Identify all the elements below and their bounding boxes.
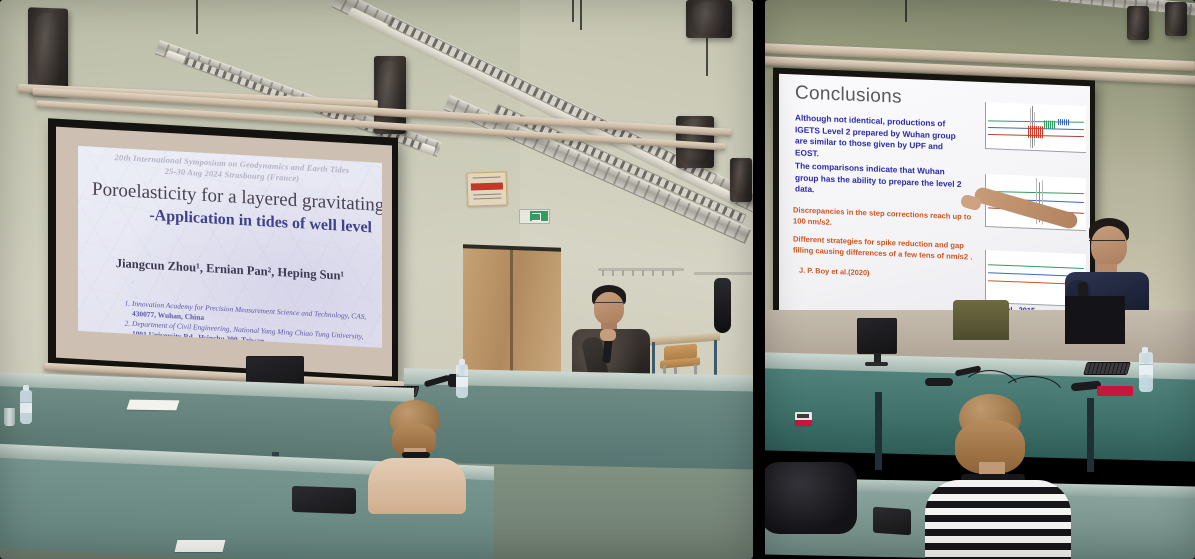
right-audience-person bbox=[905, 400, 1085, 559]
mini-chart-title: Earthquake time of December 1997 bbox=[986, 102, 1086, 103]
red-device bbox=[1097, 386, 1133, 396]
hanging-wire bbox=[196, 0, 198, 34]
keyboard bbox=[1083, 362, 1131, 375]
dark-panel bbox=[1065, 296, 1125, 344]
slide-paragraph-1: Although not identical, productions of I… bbox=[795, 112, 967, 165]
photo-left-lecture-hall-wide: 20th International Symposium on Geodynam… bbox=[0, 0, 753, 559]
audience-jacket bbox=[368, 458, 466, 514]
coat-hook-rail bbox=[694, 272, 752, 275]
loudspeaker bbox=[1127, 6, 1149, 40]
paper-sheet bbox=[175, 540, 226, 552]
presenter-hand bbox=[600, 329, 616, 341]
desk-label-sticker bbox=[795, 412, 812, 426]
slide-paragraph-2: The comparisons indicate that Wuhan grou… bbox=[795, 160, 967, 201]
screenshot-root: 20th International Symposium on Geodynam… bbox=[0, 0, 1195, 559]
paper-sheet bbox=[127, 400, 180, 411]
presentation-slide-left: 20th International Symposium on Geodynam… bbox=[78, 146, 382, 348]
hall-door bbox=[463, 244, 561, 379]
left-audience-person bbox=[362, 396, 480, 516]
projection-screen: 20th International Symposium on Geodynam… bbox=[48, 118, 398, 383]
audience-striped-shirt bbox=[925, 480, 1071, 559]
chair-back bbox=[953, 300, 1009, 340]
hanging-wire bbox=[572, 0, 574, 22]
slide-reference-note: J. P. Boy et al.(2020) bbox=[799, 266, 870, 278]
microphone bbox=[925, 378, 953, 386]
chair bbox=[660, 345, 700, 377]
wall-notice-poster bbox=[466, 171, 507, 206]
slide-authors: Jiangcun Zhou¹, Ernian Pan², Heping Sun¹ bbox=[78, 254, 382, 286]
monitor bbox=[857, 318, 897, 354]
slide-paragraph-4: Different strategies for spike reduction… bbox=[793, 234, 975, 262]
drinking-glass bbox=[4, 408, 15, 426]
laptop bbox=[292, 486, 356, 514]
water-bottle bbox=[1139, 352, 1153, 392]
water-bottle bbox=[20, 390, 32, 424]
slide-affiliations: Innovation Academy for Precision Measure… bbox=[118, 298, 372, 348]
eyeglasses-icon bbox=[594, 302, 624, 309]
water-bottle bbox=[456, 364, 468, 398]
slide-paragraph-3: Discrepancies in the step corrections re… bbox=[793, 205, 975, 233]
backpack bbox=[765, 462, 857, 534]
hanging-wire bbox=[905, 0, 907, 22]
slide-title: Conclusions bbox=[795, 82, 902, 108]
photo-right-lecture-hall: Conclusions Although not identical, prod… bbox=[765, 0, 1195, 559]
loudspeaker bbox=[1165, 2, 1187, 36]
hanging-wire bbox=[580, 0, 582, 30]
loudspeaker bbox=[730, 158, 752, 202]
loudspeaker bbox=[686, 0, 732, 38]
exit-sign-icon bbox=[519, 209, 550, 224]
eyeglasses-icon bbox=[1089, 240, 1125, 249]
hanging-coat bbox=[714, 278, 731, 333]
screen-mat: 20th International Symposium on Geodynam… bbox=[56, 127, 392, 377]
mini-chart-title: Before or transient disturbance without … bbox=[986, 174, 1086, 175]
mini-chart-1: Earthquake time of December 1997 bbox=[985, 102, 1086, 153]
loudspeaker bbox=[28, 7, 68, 94]
